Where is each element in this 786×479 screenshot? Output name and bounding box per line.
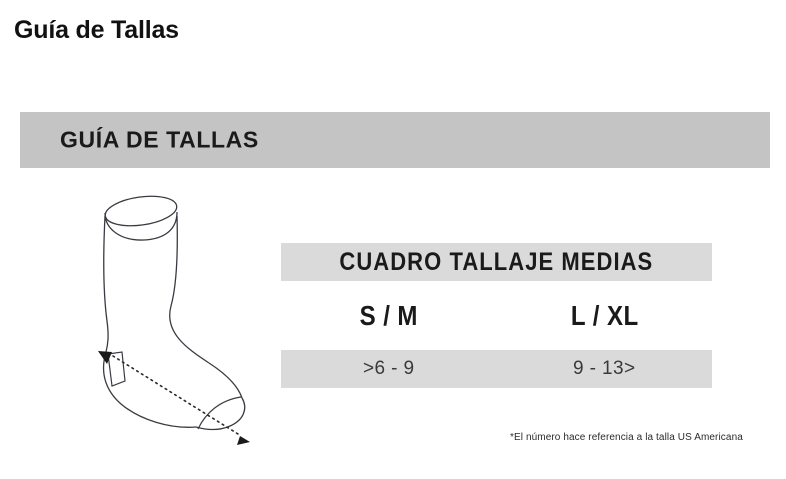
sock-diagram bbox=[78, 186, 274, 452]
size-table: CUADRO TALLAJE MEDIAS S / M L / XL >6 - … bbox=[281, 243, 712, 388]
sock-illustration-svg bbox=[78, 186, 274, 452]
size-value-lxl: 9 - 13> bbox=[497, 358, 713, 380]
size-label-lxl: L / XL bbox=[512, 300, 697, 332]
page-title: Guía de Tallas bbox=[14, 16, 179, 45]
sock-heel-patch bbox=[108, 352, 125, 386]
size-table-value-row: >6 - 9 9 - 13> bbox=[281, 350, 712, 388]
banner-title: GUÍA DE TALLAS bbox=[60, 127, 259, 154]
footnote: *El número hace referencia a la talla US… bbox=[510, 432, 743, 443]
sock-instep-outline bbox=[209, 363, 242, 398]
measurement-arrow-toe bbox=[237, 436, 250, 445]
size-table-header-bar: CUADRO TALLAJE MEDIAS bbox=[281, 243, 712, 281]
sock-leg-front-outline bbox=[170, 216, 209, 363]
size-table-label-row: S / M L / XL bbox=[281, 281, 712, 350]
size-guide-banner: GUÍA DE TALLAS bbox=[20, 112, 770, 168]
sock-heel-sole-outline bbox=[104, 352, 196, 427]
measurement-arrow-heel bbox=[98, 351, 112, 364]
size-table-title: CUADRO TALLAJE MEDIAS bbox=[340, 248, 654, 277]
size-value-sm: >6 - 9 bbox=[281, 358, 497, 380]
sock-cuff-opening bbox=[103, 192, 178, 230]
sock-leg-back-outline bbox=[104, 216, 108, 352]
sock-toe-outline bbox=[196, 398, 245, 430]
measurement-dotted-line bbox=[113, 356, 238, 434]
size-label-sm: S / M bbox=[296, 300, 481, 332]
